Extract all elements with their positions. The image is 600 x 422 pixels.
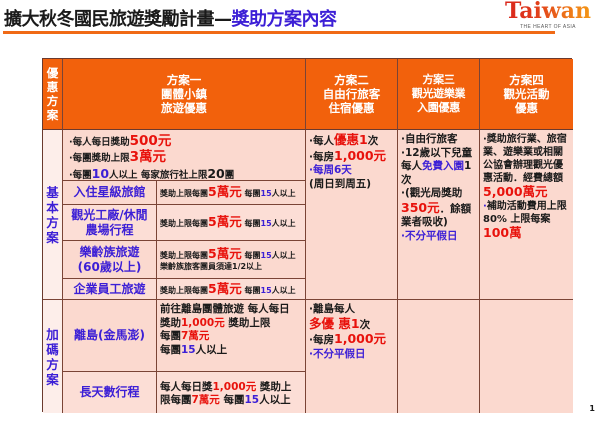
table-header-category: 優惠 方案: [43, 59, 63, 130]
header-category-line1: 優惠: [43, 66, 62, 94]
plan1-sub2: 旅遊優惠: [161, 101, 207, 115]
plan4-sub2: 優惠: [504, 101, 550, 115]
section-bonus-line1: 加碼: [43, 327, 62, 357]
table-header-plan4: 方案四 觀光活動 優惠: [480, 59, 573, 130]
plan3-sub1: 觀光遊樂業: [412, 87, 466, 101]
plan3-basic-line3: (觀光局獎助350元．餘額業者吸收): [401, 187, 476, 230]
bonus-row-detail-long-stay: 每人每日獎1,000元 獎助上 限每團7萬元 每團15人以上: [157, 372, 306, 413]
plan4-bonus-empty: [480, 300, 573, 413]
table-header-plan3: 方案三 觀光遊樂業 入園優惠: [398, 59, 480, 130]
page-title-main: 擴大秋冬國民旅遊獎勵計畫—: [4, 9, 232, 30]
basic-row-detail-factory-farm: 獎助上限每團5萬元 每團15人以上: [157, 205, 306, 241]
plan2-sub1: 自由行旅客: [323, 87, 381, 101]
plan2-title: 方案二: [323, 73, 381, 87]
brand-wordmark: Taiwan: [500, 0, 596, 23]
basic-row-detail-corporate: 獎助上限每團5萬元 每團15人以上: [157, 279, 306, 300]
slide-header: 擴大秋冬國民旅遊獎勵計畫—獎助方案內容 Taiwan THE HEART OF …: [0, 0, 600, 40]
page-title-accent: 獎助方案內容: [232, 9, 337, 30]
plan4-basic-content: 獎助旅行業、旅宿業、遊樂業或相關公協會辦理觀光優惠活動．經費總額5,000萬元 …: [480, 130, 573, 300]
plan4-basic-line2: 補助活動費用上限80% 上限每案100萬: [483, 200, 570, 241]
plan2-bonus-line2: 多優 惠1次: [309, 317, 394, 333]
plan4-sub1: 觀光活動: [504, 87, 550, 101]
plan1-bullet-list: 每人每日獎助500元 每團獎助上限3萬元 每團10人以上 每家旅行社上限20團: [63, 130, 306, 181]
section-bonus-line2: 方案: [43, 357, 62, 387]
plan1-bullet-2: 每團獎助上限3萬元: [69, 150, 300, 166]
plan2-bonus-line3: 每房1,000元: [309, 332, 394, 348]
header-category-line2: 方案: [43, 94, 62, 122]
plan3-bonus-empty: [398, 300, 480, 413]
plan2-bonus-content: 離島每人 多優 惠1次 每房1,000元 不分平假日: [306, 300, 398, 413]
plan3-sub2: 入園優惠: [412, 101, 466, 115]
basic-row-name-corporate: 企業員工旅遊: [63, 279, 157, 300]
plan2-basic-line2: 每房1,000元: [309, 149, 394, 165]
table-header-plan1: 方案一 團體小鎮 旅遊優惠: [63, 59, 306, 130]
taiwan-brand-logo: Taiwan THE HEART OF ASIA: [500, 0, 596, 30]
basic-row-name-hotel: 入住星級旅館: [63, 181, 157, 205]
basic-row-detail-senior: 獎助上限每團5萬元 每團15人以上 樂齡族旅客團員須達1/2以上: [157, 241, 306, 279]
plan2-basic-line4: (周日到周五): [309, 178, 394, 192]
bonus-row-detail-outlying-islands: 前往離島團體旅遊 每人每日 獎助1,000元 獎助上限 每團7萬元 每團15人以…: [157, 300, 306, 372]
plan1-bullet-3: 每團10人以上 每家旅行社上限20團: [69, 166, 300, 181]
page-number: 1: [589, 404, 595, 413]
section-basic-line2: 方案: [43, 215, 62, 245]
section-basic-line1: 基本: [43, 185, 62, 215]
plan2-basic-line3: 每周6天: [309, 164, 394, 178]
title-underline-rule: [3, 31, 555, 34]
plan4-title: 方案四: [504, 73, 550, 87]
plan2-basic-content: 每人優惠1次 每房1,000元 每周6天 (周日到周五): [306, 130, 398, 300]
basic-row-detail-hotel: 獎助上限每團5萬元 每團15人以上: [157, 181, 306, 205]
section-label-basic: 基本 方案: [43, 130, 63, 300]
plan2-bonus-line1: 離島每人: [309, 303, 394, 317]
plan3-basic-line2: 12歲以下兒童每人免費入園1次: [401, 147, 476, 188]
plan4-basic-line1: 獎助旅行業、旅宿業、遊樂業或相關公協會辦理觀光優惠活動．經費總額5,000萬元: [483, 133, 570, 200]
plan2-bonus-line4: 不分平假日: [309, 348, 394, 362]
basic-row-name-senior: 樂齡族旅遊 (60歲以上): [63, 241, 157, 279]
plan1-bullet-1-amount: 500: [130, 133, 158, 149]
brand-tagline: THE HEART OF ASIA: [500, 24, 596, 30]
basic-row-detail-senior-note: 樂齡族旅客團員須達1/2以上: [160, 261, 296, 272]
table-header-plan2: 方案二 自由行旅客 住宿優惠: [306, 59, 398, 130]
plan3-basic-content: 自由行旅客 12歲以下兒童每人免費入園1次 (觀光局獎助350元．餘額業者吸收)…: [398, 130, 480, 300]
basic-row-name-factory-farm: 觀光工廠/休閒 農場行程: [63, 205, 157, 241]
bonus-row-name-outlying-islands: 離島(金馬澎): [63, 300, 157, 372]
plan3-title: 方案三: [412, 73, 466, 87]
plan1-title: 方案一: [161, 73, 207, 87]
plan2-sub2: 住宿優惠: [323, 101, 381, 115]
plan1-bullet-1: 每人每日獎助500元: [69, 134, 300, 150]
plan1-sub1: 團體小鎮: [161, 87, 207, 101]
plan2-basic-line1: 每人優惠1次: [309, 133, 394, 149]
bonus-row-name-long-stay: 長天數行程: [63, 372, 157, 413]
incentive-plan-table: 優惠 方案 方案一 團體小鎮 旅遊優惠 方案二 自由行旅客 住宿優惠 方案三 觀…: [42, 58, 572, 412]
plan3-basic-line4: 不分平假日: [401, 230, 476, 244]
page-title: 擴大秋冬國民旅遊獎勵計畫—獎助方案內容: [4, 5, 337, 31]
plan3-basic-line1: 自由行旅客: [401, 133, 476, 147]
plan1-bullet-2-amount: 3萬: [130, 149, 153, 165]
section-label-bonus: 加碼 方案: [43, 300, 63, 413]
